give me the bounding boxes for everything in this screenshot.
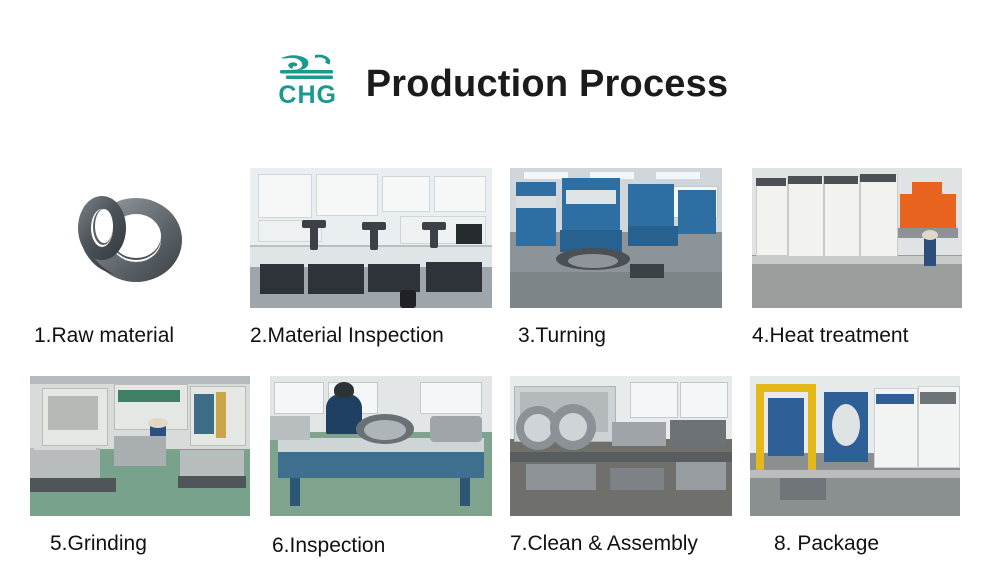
process-step-8: 8. Package [750,376,960,558]
process-step-5: 5.Grinding [30,376,250,558]
step-caption: 7.Clean & Assembly [510,532,732,556]
page-header: CHG Production Process [0,46,1000,122]
clean-assembly-photo [510,376,732,516]
step-caption: 3.Turning [518,324,722,348]
chg-monogram-icon [278,53,336,83]
process-steps-grid: 1.Raw material [30,168,970,558]
process-row-2: 5.Grinding [30,376,970,558]
process-step-7: 7.Clean & Assembly [510,376,732,558]
step-caption: 5.Grinding [50,532,250,556]
heat-treatment-photo [752,168,962,308]
chg-logo: CHG [272,53,344,115]
process-step-1: 1.Raw material [30,168,230,352]
step-caption: 8. Package [774,532,960,556]
turning-photo [510,168,722,308]
step-caption: 4.Heat treatment [752,324,962,348]
material-inspection-photo [250,168,492,308]
chg-logo-text: CHG [272,81,344,110]
process-step-4: 4.Heat treatment [752,168,962,352]
package-photo [750,376,960,516]
page-title: Production Process [366,63,729,106]
step-caption: 2.Material Inspection [250,324,492,348]
grinding-photo [30,376,250,516]
production-process-page: CHG Production Process [0,0,1000,563]
raw-ring-illustration [68,178,188,298]
process-step-3: 3.Turning [510,168,722,352]
step-caption: 6.Inspection [272,534,492,558]
process-step-2: 2.Material Inspection [250,168,492,352]
process-step-6: 6.Inspection [270,376,492,558]
process-row-1: 1.Raw material [30,168,970,352]
step-caption: 1.Raw material [34,324,230,348]
raw-material-photo [30,168,230,308]
inspection-photo [270,376,492,516]
